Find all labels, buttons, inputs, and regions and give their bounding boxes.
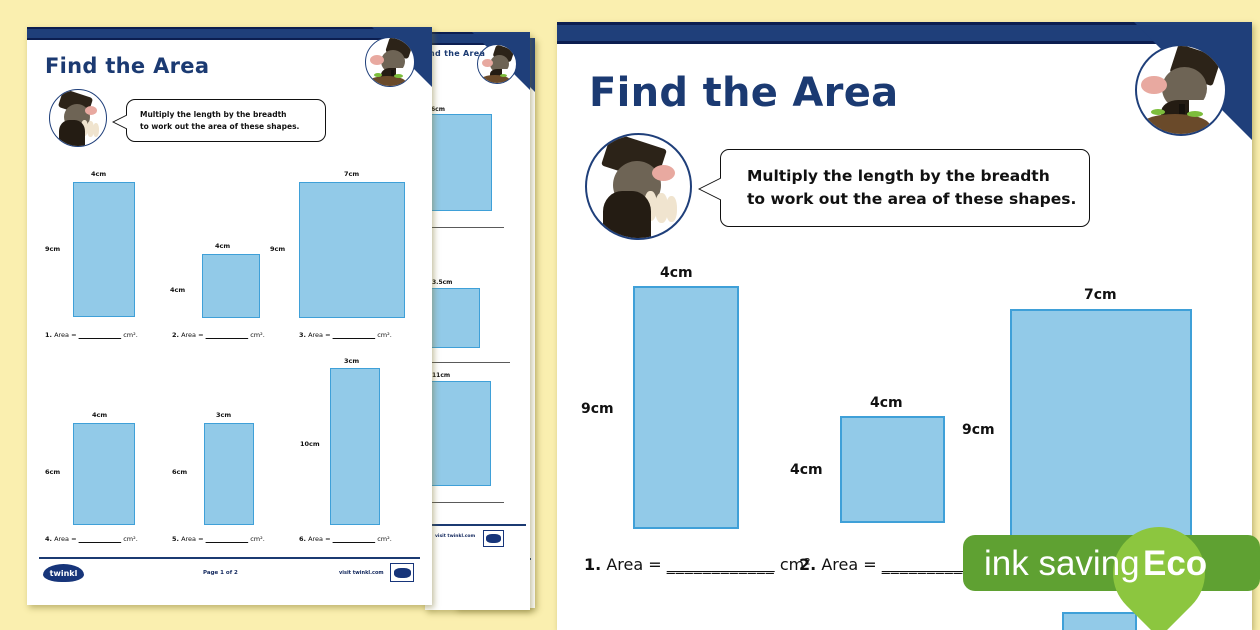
thumbnail-stack[interactable]: visit twinkl.com nd the Area 6cm 3.5cm (0, 0, 545, 630)
sheet2-visit-badge (483, 530, 504, 547)
thumb-q2-unit: cm². (250, 331, 265, 339)
thumb-bubble-line-1: Multiply the length by the breadth (140, 109, 325, 121)
thumb-q6-unit: cm². (377, 535, 392, 543)
sheet2-shape-2 (426, 288, 480, 348)
page-title: Find the Area (589, 70, 898, 116)
thumb-q2-blank[interactable]: __________ (206, 331, 249, 339)
thumb-shape2-side-label: 4cm (170, 286, 185, 294)
thumb-question-5: 5. Area = __________ cm². (172, 535, 265, 543)
thumb-q4-word: Area = (54, 535, 76, 543)
sheet2-label-11cm: 11cm (432, 372, 450, 379)
thumb-shape3-top-label: 7cm (344, 170, 359, 178)
shape3-side-label: 9cm (962, 422, 995, 438)
q2-num: 2. (799, 555, 816, 574)
sheet2-rule-2 (426, 362, 510, 363)
thumb-q1-word: Area = (54, 331, 76, 339)
sheet2-shape-1 (426, 114, 492, 211)
thumb-q1-unit: cm². (123, 331, 138, 339)
mole-teacher-icon (49, 89, 107, 147)
thumb-shape4-side-label: 6cm (45, 468, 60, 476)
bubble-line-2: to work out the area of these shapes. (747, 188, 1089, 211)
thumb-shape5-top-label: 3cm (216, 411, 231, 419)
thumb-q3-num: 3. (299, 331, 306, 339)
sheet2-visit-text: visit twinkl.com (435, 534, 475, 539)
thumb-question-4: 4. Area = __________ cm². (45, 535, 138, 543)
thumb-shape1-side-label: 9cm (45, 245, 60, 253)
thumb-question-6: 6. Area = __________ cm². (299, 535, 392, 543)
eco-text-ink-saving: ink saving (984, 544, 1140, 584)
q1-word: Area = (606, 555, 661, 574)
thumb-visit-text[interactable]: visit twinkl.com (339, 570, 384, 576)
thumb-bubble-line-2: to work out the area of these shapes. (140, 121, 325, 133)
thumb-instruction-bubble: Multiply the length by the breadth to wo… (126, 99, 326, 142)
shape-1 (633, 286, 739, 529)
mole-graduate-corner-icon (1135, 44, 1227, 136)
sheet2-shape-3 (426, 381, 491, 486)
thumb-shape-5 (204, 423, 254, 525)
shape-4-partial (1062, 612, 1137, 630)
eco-text-eco: Eco (1143, 544, 1207, 584)
shape2-side-label: 4cm (790, 462, 823, 478)
thumb-shape-1 (73, 182, 135, 317)
sheet2-rule-3 (426, 502, 504, 503)
thumb-shape4-top-label: 4cm (92, 411, 107, 419)
sheet2-label-35cm: 3.5cm (432, 279, 452, 286)
thumb-q3-blank[interactable]: __________ (333, 331, 376, 339)
thumb-q5-unit: cm². (250, 535, 265, 543)
shape1-top-label: 4cm (660, 265, 693, 281)
twinkl-logo[interactable]: twinkl (43, 564, 84, 582)
thumb-shape-2 (202, 254, 260, 318)
q2-word: Area = (821, 555, 876, 574)
sheet2-rule-1 (426, 227, 504, 228)
shape3-top-label: 7cm (1084, 287, 1117, 303)
thumb-q5-blank[interactable]: __________ (206, 535, 249, 543)
thumb-footer-rule (39, 557, 420, 559)
mole-graduate-corner-icon (365, 37, 415, 87)
thumb-shape-4 (73, 423, 135, 525)
ink-saving-eco-badge: ink saving Eco (963, 527, 1260, 599)
thumb-q5-word: Area = (181, 535, 203, 543)
thumb-q2-num: 2. (172, 331, 179, 339)
instruction-bubble: Multiply the length by the breadth to wo… (720, 149, 1090, 227)
thumb-shape6-side-label: 10cm (300, 440, 320, 448)
thumb-shape-6 (330, 368, 380, 525)
thumb-question-3: 3. Area = __________ cm². (299, 331, 392, 339)
mole-teacher-icon (585, 133, 692, 240)
thumb-visit-badge[interactable] (390, 563, 414, 582)
thumb-q4-unit: cm². (123, 535, 138, 543)
thumb-shape2-top-label: 4cm (215, 242, 230, 250)
thumb-question-1: 1. Area = __________ cm². (45, 331, 138, 339)
thumb-q1-num: 1. (45, 331, 52, 339)
question-1: 1. Area = ____________ cm². (584, 555, 816, 574)
shape-3 (1010, 309, 1192, 549)
thumb-q3-unit: cm². (377, 331, 392, 339)
thumb-q5-num: 5. (172, 535, 179, 543)
thumb-q4-blank[interactable]: __________ (79, 535, 122, 543)
thumb-q3-word: Area = (308, 331, 330, 339)
sheet2-title: nd the Area (429, 49, 485, 58)
thumb-question-2: 2. Area = __________ cm². (172, 331, 265, 339)
thumb-page-title: Find the Area (45, 54, 209, 78)
thumb-q6-num: 6. (299, 535, 306, 543)
background-sheet-2: nd the Area 6cm 3.5cm 11cm visit twinkl.… (425, 32, 530, 610)
thumb-page-number: Page 1 of 2 (203, 570, 238, 576)
thumb-q6-word: Area = (308, 535, 330, 543)
thumb-q2-word: Area = (181, 331, 203, 339)
thumb-q1-blank[interactable]: __________ (79, 331, 122, 339)
sheet2-footer-rule (426, 524, 526, 526)
thumb-shape3-side-label: 9cm (270, 245, 285, 253)
worksheet-thumbnail-page1[interactable]: Find the Area Multiply the length by the… (27, 27, 432, 605)
thumb-q4-num: 4. (45, 535, 52, 543)
thumb-shape-3 (299, 182, 405, 318)
shape2-top-label: 4cm (870, 395, 903, 411)
q1-blank[interactable]: ____________ (667, 555, 775, 574)
q1-num: 1. (584, 555, 601, 574)
bubble-line-1: Multiply the length by the breadth (747, 165, 1089, 188)
sheet2-label-6cm: 6cm (431, 106, 445, 113)
thumb-q6-blank[interactable]: __________ (333, 535, 376, 543)
shape-2 (840, 416, 945, 523)
shape1-side-label: 9cm (581, 401, 614, 417)
thumb-shape6-top-label: 3cm (344, 357, 359, 365)
thumb-shape1-top-label: 4cm (91, 170, 106, 178)
thumb-shape5-side-label: 6cm (172, 468, 187, 476)
